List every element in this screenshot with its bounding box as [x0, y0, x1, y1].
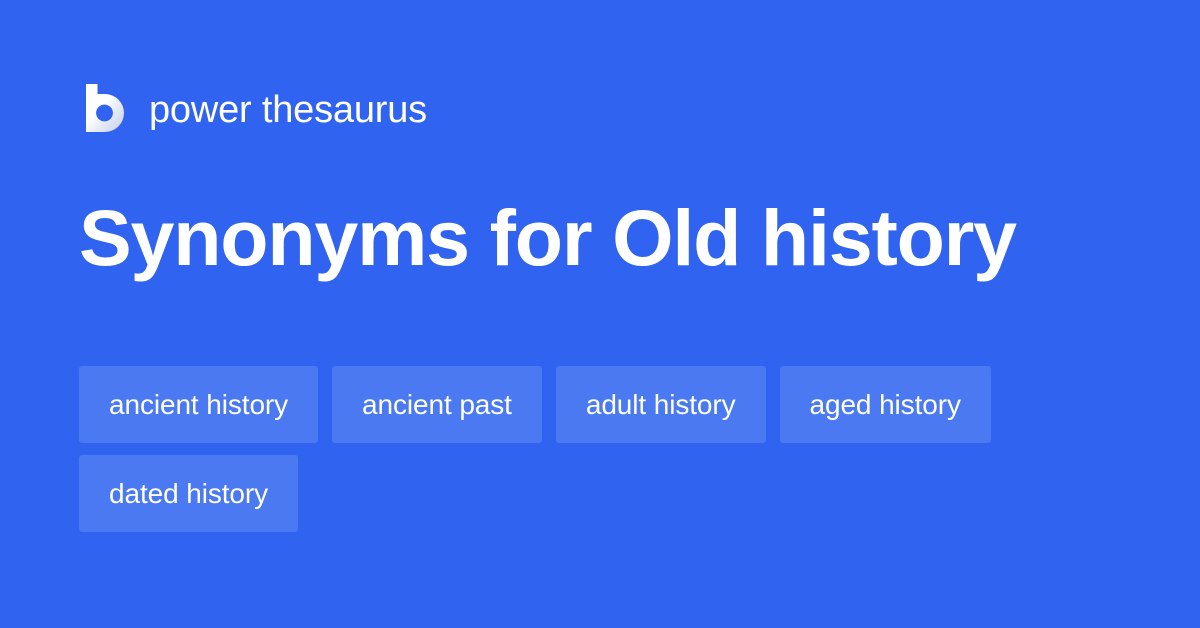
synonym-chip[interactable]: ancient history	[79, 366, 318, 443]
synonym-chip-list: ancient history ancient past adult histo…	[79, 366, 1119, 532]
synonym-chip[interactable]: dated history	[79, 455, 298, 532]
social-card: power thesaurus Synonyms for Old history…	[0, 0, 1200, 628]
brand-header[interactable]: power thesaurus	[79, 82, 427, 138]
brand-name: power thesaurus	[149, 91, 427, 129]
synonym-chip[interactable]: ancient past	[332, 366, 542, 443]
synonym-chip[interactable]: adult history	[556, 366, 766, 443]
power-thesaurus-b-logo-icon	[79, 82, 129, 138]
synonym-chip[interactable]: aged history	[780, 366, 991, 443]
page-title: Synonyms for Old history	[79, 198, 1129, 277]
